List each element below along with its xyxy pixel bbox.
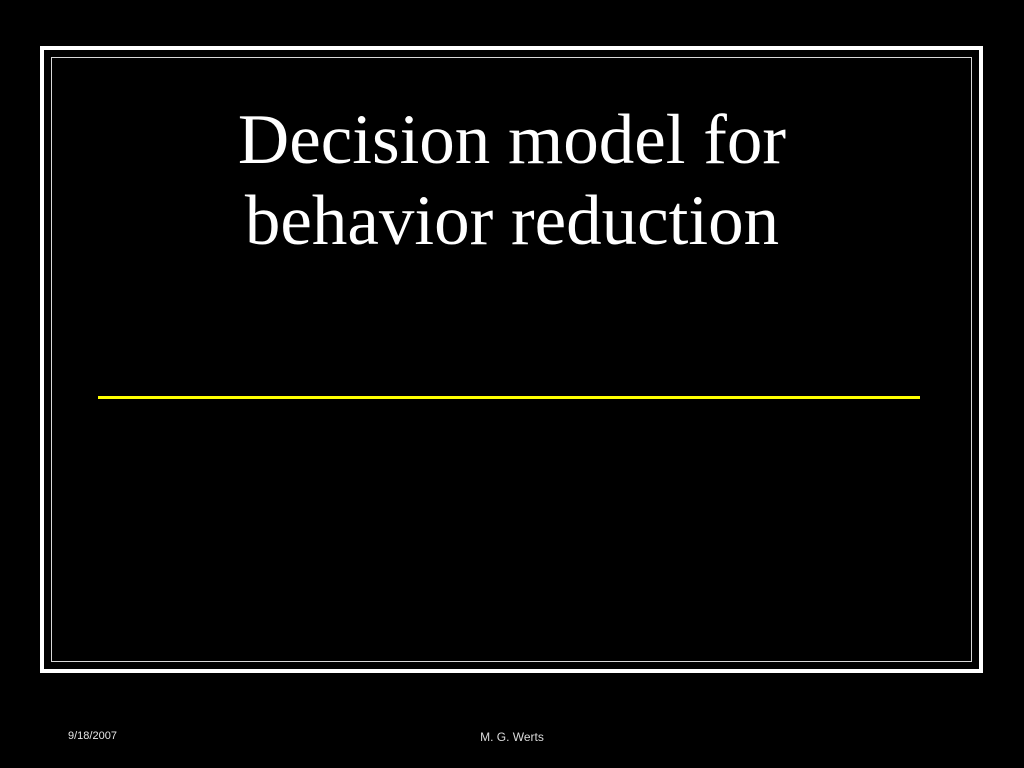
slide-canvas: Decision model for behavior reduction 9/…	[0, 0, 1024, 768]
yellow-divider-rule	[98, 396, 920, 399]
slide-title-block: Decision model for behavior reduction	[112, 100, 912, 262]
page-title: Decision model for behavior reduction	[112, 100, 912, 262]
slide-footer: 9/18/2007 M. G. Werts	[0, 730, 1024, 750]
footer-author: M. G. Werts	[0, 730, 1024, 744]
